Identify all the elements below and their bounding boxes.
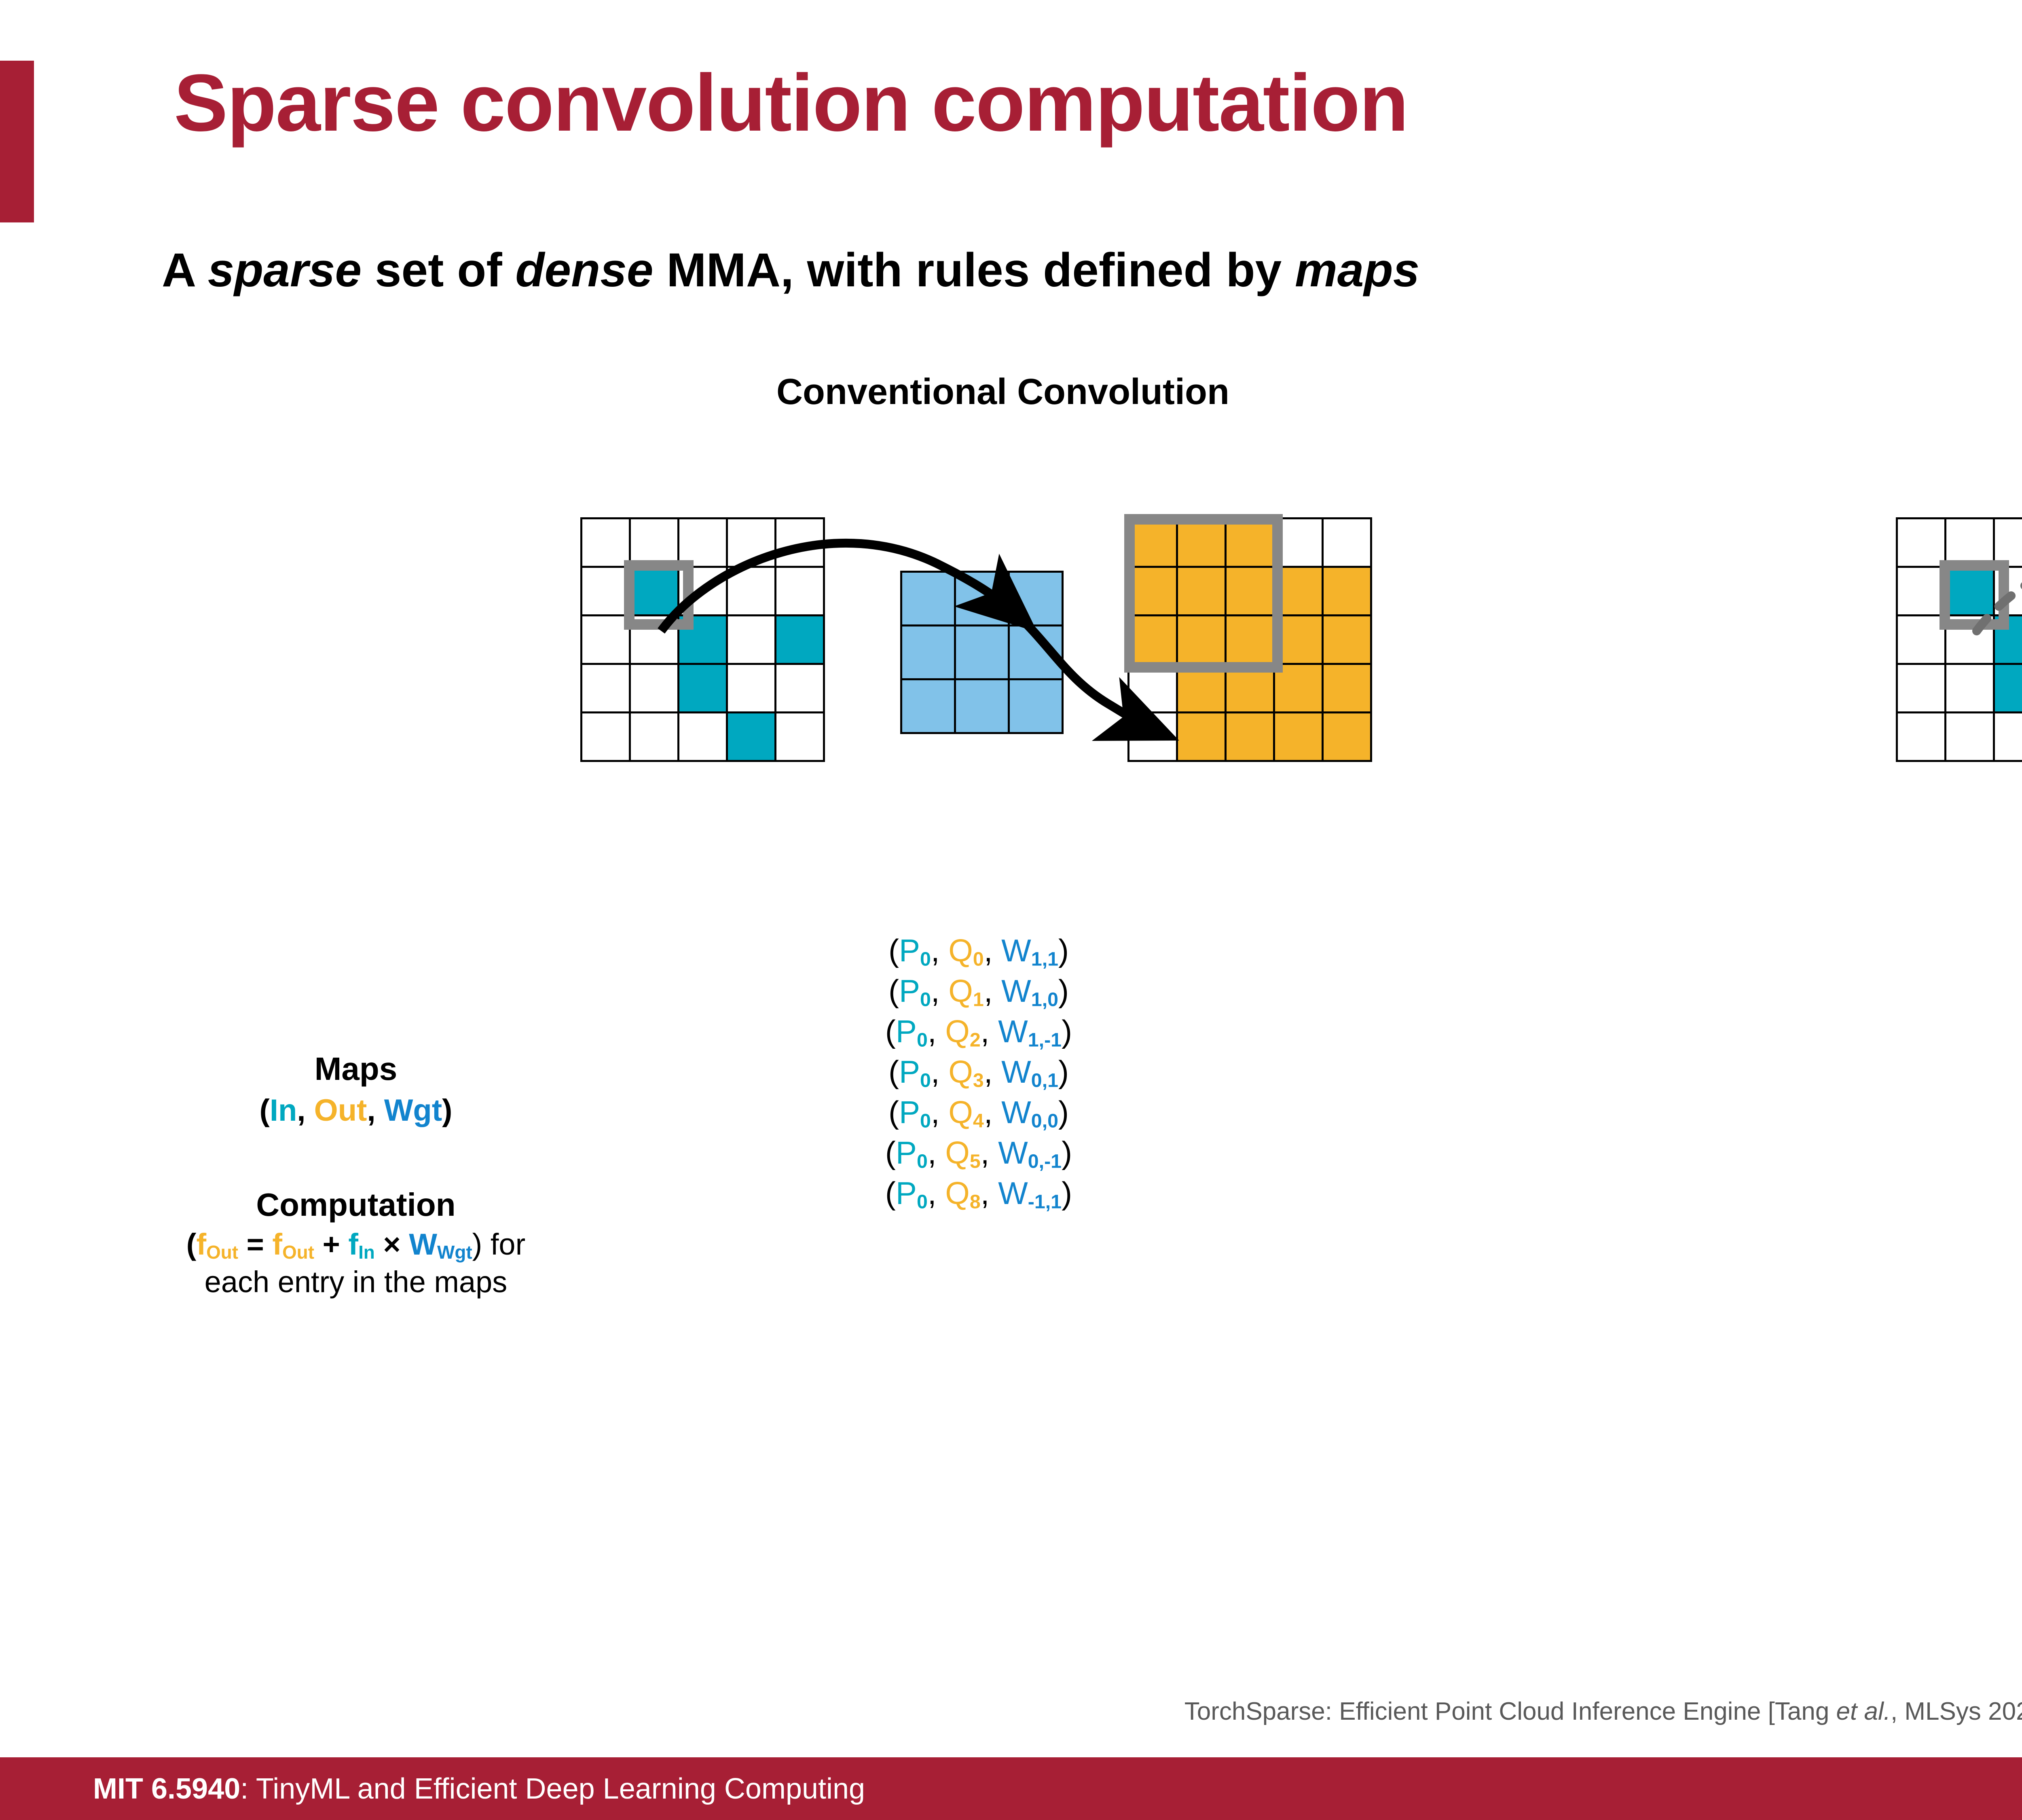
slide-title: Sparse convolution computation xyxy=(174,63,2022,144)
conv-input-cell-r1-c2 xyxy=(677,566,728,616)
conv-input-cell-r0-c2 xyxy=(677,517,728,568)
conv-input-cell-r4-c1 xyxy=(629,711,679,762)
conv-output-cell-r4-c2 xyxy=(1225,711,1275,762)
conv-output-cell-r0-c1 xyxy=(1176,517,1227,568)
conv-input-cell-r2-c2 xyxy=(677,614,728,665)
conv-tuple-5-open: ( xyxy=(885,1135,896,1170)
formula-fout-2: f xyxy=(272,1227,282,1261)
conv-tuple-1-in: P0 xyxy=(899,973,931,1009)
paren-open: ( xyxy=(260,1093,270,1128)
sparse-map-row-3: No compute xyxy=(2014,1052,2022,1092)
sparse-input-cell-r3-c2 xyxy=(1993,663,2022,713)
conv-tuple-2-in: P0 xyxy=(896,1014,928,1049)
legend-wgt-label: Wgt xyxy=(384,1093,442,1128)
conv-output-cell-r4-c3 xyxy=(1273,711,1324,762)
title-accent-bar xyxy=(0,61,34,222)
sparse-map-row-4: (P0, Q0, W0,0) xyxy=(2014,1092,2022,1132)
conv-output-cell-r3-c4 xyxy=(1322,663,1372,713)
sparse-map-row-6: No compute xyxy=(2014,1173,2022,1213)
conv-input-cell-r3-c4 xyxy=(774,663,825,713)
legend-in-label: In xyxy=(270,1093,297,1128)
conventional-map-row-6: (P0, Q8, W-1,1) xyxy=(760,1173,1197,1213)
conv-input-cell-r0-c4 xyxy=(774,517,825,568)
maps-tuple-legend: (In, Out, Wgt) xyxy=(0,1090,712,1131)
legend-column: Maps (In, Out, Wgt) Computation (fOut = … xyxy=(0,1048,712,1300)
citation-pre: TorchSparse: Efficient Point Cloud Infer… xyxy=(1184,1697,1836,1725)
conv-kernel-cell-r1-c0 xyxy=(900,624,956,680)
formula-paren-open: ( xyxy=(186,1227,197,1261)
conv-tuple-6-in: P0 xyxy=(896,1175,928,1211)
conv-output-cell-r3-c1 xyxy=(1176,663,1227,713)
sparse-input-cell-r4-c0 xyxy=(1896,711,1946,762)
formula-fin-sub: In xyxy=(358,1242,375,1263)
conventional-map-row-4: (P0, Q4, W0,0) xyxy=(760,1092,1197,1132)
legend-sep-1: , xyxy=(297,1093,314,1128)
formula-fout-1-sub: Out xyxy=(206,1242,238,1263)
slide-subtitle: A sparse set of dense MMA, with rules de… xyxy=(162,243,2022,298)
conv-input-cell-r2-c1 xyxy=(629,614,679,665)
sparse-input-cell-r4-c1 xyxy=(1944,711,1995,762)
conventional-maps-list: (P0, Q0, W1,1)(P0, Q1, W1,0)(P0, Q2, W1,… xyxy=(760,930,1197,1213)
conv-input-cell-r2-c3 xyxy=(726,614,776,665)
sparse-input-cell-r0-c2 xyxy=(1993,517,2022,568)
citation-italic: et al. xyxy=(1836,1697,1891,1725)
conv-tuple-5-in: P0 xyxy=(896,1135,928,1170)
computation-formula: (fOut = fOut + fIn × WWgt) for each entr… xyxy=(0,1226,712,1300)
formula-w: W xyxy=(409,1227,437,1261)
conv-output-cell-r0-c3 xyxy=(1273,517,1324,568)
conv-output-cell-r0-c4 xyxy=(1322,517,1372,568)
conv-tuple-4-close: ) xyxy=(1058,1094,1069,1130)
conv-tuple-6-out: Q8 xyxy=(945,1175,981,1211)
conv-tuple-1-wgt: W1,0 xyxy=(1001,973,1058,1009)
conv-tuple-1-close: ) xyxy=(1058,973,1069,1009)
conv-tuple-0-out: Q0 xyxy=(948,933,984,968)
conv-input-cell-r1-c1 xyxy=(629,566,679,616)
conv-tuple-6-open: ( xyxy=(885,1175,896,1211)
conv-tuple-3-open: ( xyxy=(888,1054,899,1090)
conv-tuple-5-close: ) xyxy=(1062,1135,1072,1170)
conv-output-cell-r4-c4 xyxy=(1322,711,1372,762)
conv-input-cell-r0-c0 xyxy=(580,517,631,568)
sparse-input-cell-r2-c1 xyxy=(1944,614,1995,665)
conv-kernel-cell-r0-c2 xyxy=(1008,571,1064,626)
conv-tuple-2-wgt: W1,-1 xyxy=(998,1014,1062,1049)
subtitle-part-0: A xyxy=(162,243,208,297)
conv-input-cell-r1-c0 xyxy=(580,566,631,616)
conv-tuple-4-wgt: W0,0 xyxy=(1001,1094,1058,1130)
conv-tuple-2-close: ) xyxy=(1062,1014,1072,1049)
conv-input-cell-r3-c2 xyxy=(677,663,728,713)
conv-output-cell-r1-c4 xyxy=(1322,566,1372,616)
conv-output-cell-r4-c0 xyxy=(1127,711,1178,762)
conv-kernel-cell-r1-c2 xyxy=(1008,624,1064,680)
conv-input-cell-r4-c2 xyxy=(677,711,728,762)
sparse-input-cell-r1-c0 xyxy=(1896,566,1946,616)
sparse-input-cell-r1-c1 xyxy=(1944,566,1995,616)
subtitle-part-dense: dense xyxy=(515,243,653,297)
conventional-input-grid xyxy=(581,518,824,761)
formula-times-icon: × xyxy=(375,1227,409,1261)
conv-tuple-1-out: Q1 xyxy=(948,973,984,1009)
subtitle-part-4: MMA, with rules defined by xyxy=(653,243,1295,297)
conv-output-cell-r3-c3 xyxy=(1273,663,1324,713)
conv-input-cell-r4-c0 xyxy=(580,711,631,762)
conv-tuple-0-open: ( xyxy=(888,933,899,968)
conv-input-cell-r1-c3 xyxy=(726,566,776,616)
sparse-input-grid xyxy=(1897,518,2022,761)
footer-course: MIT 6.5940: TinyML and Efficient Deep Le… xyxy=(93,1772,865,1805)
conv-tuple-6-close: ) xyxy=(1062,1175,1072,1211)
conv-kernel-cell-r2-c0 xyxy=(900,678,956,734)
conv-tuple-4-in: P0 xyxy=(899,1094,931,1130)
formula-equals: = xyxy=(238,1227,272,1261)
conv-tuple-0-wgt: W1,1 xyxy=(1001,933,1058,968)
conv-tuple-0-close: ) xyxy=(1058,933,1069,968)
conv-input-cell-r3-c3 xyxy=(726,663,776,713)
conventional-map-row-1: (P0, Q1, W1,0) xyxy=(760,971,1197,1011)
sparse-map-row-0: No compute xyxy=(2014,930,2022,971)
conv-tuple-5-wgt: W0,-1 xyxy=(998,1135,1062,1170)
sparse-maps-list: No computeNo computeNo computeNo compute… xyxy=(2014,930,2022,1213)
conv-output-cell-r1-c2 xyxy=(1225,566,1275,616)
conv-input-cell-r4-c3 xyxy=(726,711,776,762)
sparse-map-row-2: No compute xyxy=(2014,1011,2022,1052)
formula-fin: f xyxy=(348,1227,358,1261)
conventional-output-grid xyxy=(1128,518,1371,761)
conventional-map-row-0: (P0, Q0, W1,1) xyxy=(760,930,1197,971)
sparse-input-cell-r3-c0 xyxy=(1896,663,1946,713)
conv-kernel-cell-r2-c1 xyxy=(954,678,1010,734)
conv-input-cell-r0-c1 xyxy=(629,517,679,568)
conv-output-cell-r2-c1 xyxy=(1176,614,1227,665)
conventional-kernel-grid xyxy=(901,571,1062,733)
formula-fout-2-sub: Out xyxy=(282,1242,314,1263)
conventional-convolution-heading: Conventional Convolution xyxy=(659,371,1347,413)
legend-out-label: Out xyxy=(314,1093,367,1128)
conv-output-cell-r4-c1 xyxy=(1176,711,1227,762)
conv-output-cell-r1-c1 xyxy=(1176,566,1227,616)
sparse-input-cell-r4-c2 xyxy=(1993,711,2022,762)
sparse-input-cell-r2-c0 xyxy=(1896,614,1946,665)
subtitle-part-2: set of xyxy=(362,243,515,297)
citation-post: , MLSys 2022] xyxy=(1891,1697,2022,1725)
formula-line-2: each entry in the maps xyxy=(0,1264,712,1300)
conv-output-cell-r1-c3 xyxy=(1273,566,1324,616)
computation-title: Computation xyxy=(0,1183,712,1226)
conv-tuple-2-open: ( xyxy=(885,1014,896,1049)
conv-tuple-6-wgt: W-1,1 xyxy=(998,1175,1062,1211)
conventional-map-row-3: (P0, Q3, W0,1) xyxy=(760,1052,1197,1092)
conv-output-cell-r2-c0 xyxy=(1127,614,1178,665)
conv-input-cell-r1-c4 xyxy=(774,566,825,616)
conv-kernel-cell-r0-c1 xyxy=(954,571,1010,626)
conv-kernel-cell-r1-c1 xyxy=(954,624,1010,680)
conv-input-cell-r2-c4 xyxy=(774,614,825,665)
footer-course-code: MIT 6.5940 xyxy=(93,1773,240,1805)
conv-tuple-3-in: P0 xyxy=(899,1054,931,1090)
conv-input-cell-r2-c0 xyxy=(580,614,631,665)
conv-input-cell-r3-c0 xyxy=(580,663,631,713)
conventional-map-row-2: (P0, Q2, W1,-1) xyxy=(760,1011,1197,1052)
formula-w-sub: Wgt xyxy=(437,1242,472,1263)
conv-input-cell-r3-c1 xyxy=(629,663,679,713)
sparse-input-cell-r0-c0 xyxy=(1896,517,1946,568)
conv-output-cell-r2-c4 xyxy=(1322,614,1372,665)
conv-tuple-2-out: Q2 xyxy=(945,1014,981,1049)
sparse-input-cell-r1-c2 xyxy=(1993,566,2022,616)
subtitle-part-sparse: sparse xyxy=(208,243,362,297)
conv-kernel-cell-r0-c0 xyxy=(900,571,956,626)
conventional-map-row-5: (P0, Q5, W0,-1) xyxy=(760,1132,1197,1173)
conv-tuple-0-in: P0 xyxy=(899,933,931,968)
paren-close: ) xyxy=(442,1093,452,1128)
sparse-map-row-5: No compute xyxy=(2014,1132,2022,1173)
conv-tuple-3-wgt: W0,1 xyxy=(1001,1054,1058,1090)
conv-tuple-3-out: Q3 xyxy=(948,1054,984,1090)
conv-input-cell-r0-c3 xyxy=(726,517,776,568)
conv-kernel-cell-r2-c2 xyxy=(1008,678,1064,734)
citation: TorchSparse: Efficient Point Cloud Infer… xyxy=(0,1697,2022,1726)
formula-paren-close: ) for xyxy=(472,1227,526,1261)
conv-output-cell-r2-c3 xyxy=(1273,614,1324,665)
conv-input-cell-r4-c4 xyxy=(774,711,825,762)
subtitle-part-maps: maps xyxy=(1295,243,1419,297)
conv-output-cell-r0-c0 xyxy=(1127,517,1178,568)
maps-title: Maps xyxy=(0,1048,712,1090)
conv-tuple-5-out: Q5 xyxy=(945,1135,981,1170)
conv-tuple-4-out: Q4 xyxy=(948,1094,984,1130)
conv-tuple-3-close: ) xyxy=(1058,1054,1069,1090)
conv-output-cell-r3-c2 xyxy=(1225,663,1275,713)
legend-sep-2: , xyxy=(367,1093,384,1128)
sparse-map-row-1: No compute xyxy=(2014,971,2022,1011)
conv-output-cell-r2-c2 xyxy=(1225,614,1275,665)
formula-plus: + xyxy=(314,1227,348,1261)
conv-tuple-1-open: ( xyxy=(888,973,899,1009)
conv-output-cell-r1-c0 xyxy=(1127,566,1178,616)
sparse-input-cell-r0-c1 xyxy=(1944,517,1995,568)
sparse-input-cell-r2-c2 xyxy=(1993,614,2022,665)
conv-output-cell-r3-c0 xyxy=(1127,663,1178,713)
sparse-input-cell-r3-c1 xyxy=(1944,663,1995,713)
footer-course-name: : TinyML and Efficient Deep Learning Com… xyxy=(240,1773,865,1805)
conv-tuple-4-open: ( xyxy=(888,1094,899,1130)
conv-output-cell-r0-c2 xyxy=(1225,517,1275,568)
formula-fout-1: f xyxy=(196,1227,206,1261)
